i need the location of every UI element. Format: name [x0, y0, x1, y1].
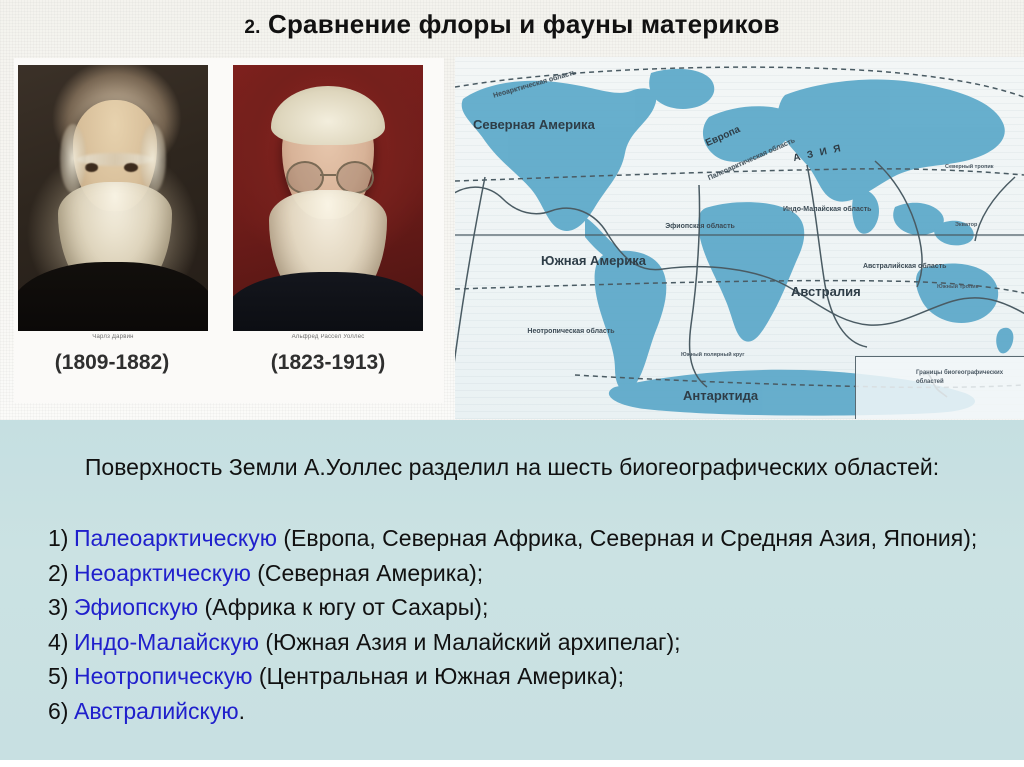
list-item-number: 3)	[48, 592, 74, 624]
content-panel: Поверхность Земли А.Уоллес разделил на ш…	[0, 420, 1024, 760]
list-item-detail: (Северная Америка);	[251, 560, 483, 586]
list-item-number: 4)	[48, 627, 74, 659]
map-label-antarctic-circle: Южный полярный круг	[681, 353, 745, 359]
list-item: 4)Индо-Малайскую (Южная Азия и Малайский…	[48, 627, 998, 659]
portraits-block: Чарлз Дарвин Альфред Рассел Уоллес (1809…	[14, 58, 444, 403]
list-item-detail: (Южная Азия и Малайский архипелаг);	[259, 629, 681, 655]
list-item-detail: (Центральная и Южная Америка);	[252, 663, 624, 689]
list-item-region: Индо-Малайскую	[74, 629, 259, 655]
page-title: 2. Сравнение флоры и фауны материков	[0, 5, 1024, 47]
map-label-equator: Экватор	[955, 223, 977, 229]
map-legend-text: Границы биогеографических областей	[916, 369, 1024, 387]
list-item-region: Австралийскую	[74, 698, 239, 724]
list-item: 2)Неоарктическую (Северная Америка);	[48, 558, 998, 590]
portrait-wallace-icon	[233, 65, 423, 331]
portrait-caption-name-wallace: Альфред Рассел Уоллес	[233, 334, 423, 340]
biogeographic-regions-map: Неоарктическая область Северная Америка …	[455, 57, 1024, 419]
title-number: 2.	[244, 17, 260, 38]
portrait-darwin-icon	[18, 65, 208, 331]
list-item-detail: (Африка к югу от Сахары);	[198, 594, 488, 620]
map-label-neotropic: Неотропическая область	[517, 327, 625, 336]
panel-bottom-strip	[0, 760, 1024, 767]
intro-text: Поверхность Земли А.Уоллес разделил на ш…	[70, 452, 954, 483]
list-item-detail: .	[239, 698, 245, 724]
list-item-region: Эфиопскую	[74, 594, 198, 620]
list-item-number: 5)	[48, 661, 74, 693]
list-item: 1)Палеоарктическую (Европа, Северная Афр…	[48, 523, 998, 555]
map-label-antarctica: Антарктида	[683, 389, 758, 403]
map-label-indomalay: Индо-Малайская область	[783, 205, 851, 214]
list-item-number: 1)	[48, 523, 74, 555]
list-item-detail: (Европа, Северная Африка, Северная и Сре…	[277, 525, 977, 551]
portrait-wallace-frame	[233, 65, 423, 331]
list-item: 6)Австралийскую.	[48, 696, 998, 728]
map-label-north-america: Северная Америка	[473, 117, 583, 133]
portrait-dates-wallace: (1823-1913)	[228, 351, 428, 375]
map-label-south-tropic: Южный тропик	[937, 285, 978, 291]
map-legend-box: Границы биогеографических областей	[855, 356, 1024, 419]
map-label-australian-region: Австралийская область	[863, 263, 946, 270]
list-item-number: 6)	[48, 696, 74, 728]
map-label-north-tropic: Северный тропик	[945, 165, 994, 171]
map-label-south-america: Южная Америка	[541, 253, 637, 270]
list-item: 3)Эфиопскую (Африка к югу от Сахары);	[48, 592, 998, 624]
slide-root: 2. Сравнение флоры и фауны материков Чар…	[0, 0, 1024, 767]
map-label-australia: Австралия	[791, 285, 861, 299]
regions-list: 1)Палеоарктическую (Европа, Северная Афр…	[48, 523, 998, 730]
map-label-ethiopian: Эфиопская область	[663, 222, 737, 231]
title-text: Сравнение флоры и фауны материков	[268, 9, 780, 39]
list-item-region: Палеоарктическую	[74, 525, 277, 551]
list-item-region: Неоарктическую	[74, 560, 251, 586]
portrait-dates-darwin: (1809-1882)	[12, 351, 212, 375]
portrait-caption-name-darwin: Чарлз Дарвин	[18, 334, 208, 340]
portrait-darwin-frame	[18, 65, 208, 331]
list-item-number: 2)	[48, 558, 74, 590]
list-item-region: Неотропическую	[74, 663, 252, 689]
list-item: 5)Неотропическую (Центральная и Южная Ам…	[48, 661, 998, 693]
